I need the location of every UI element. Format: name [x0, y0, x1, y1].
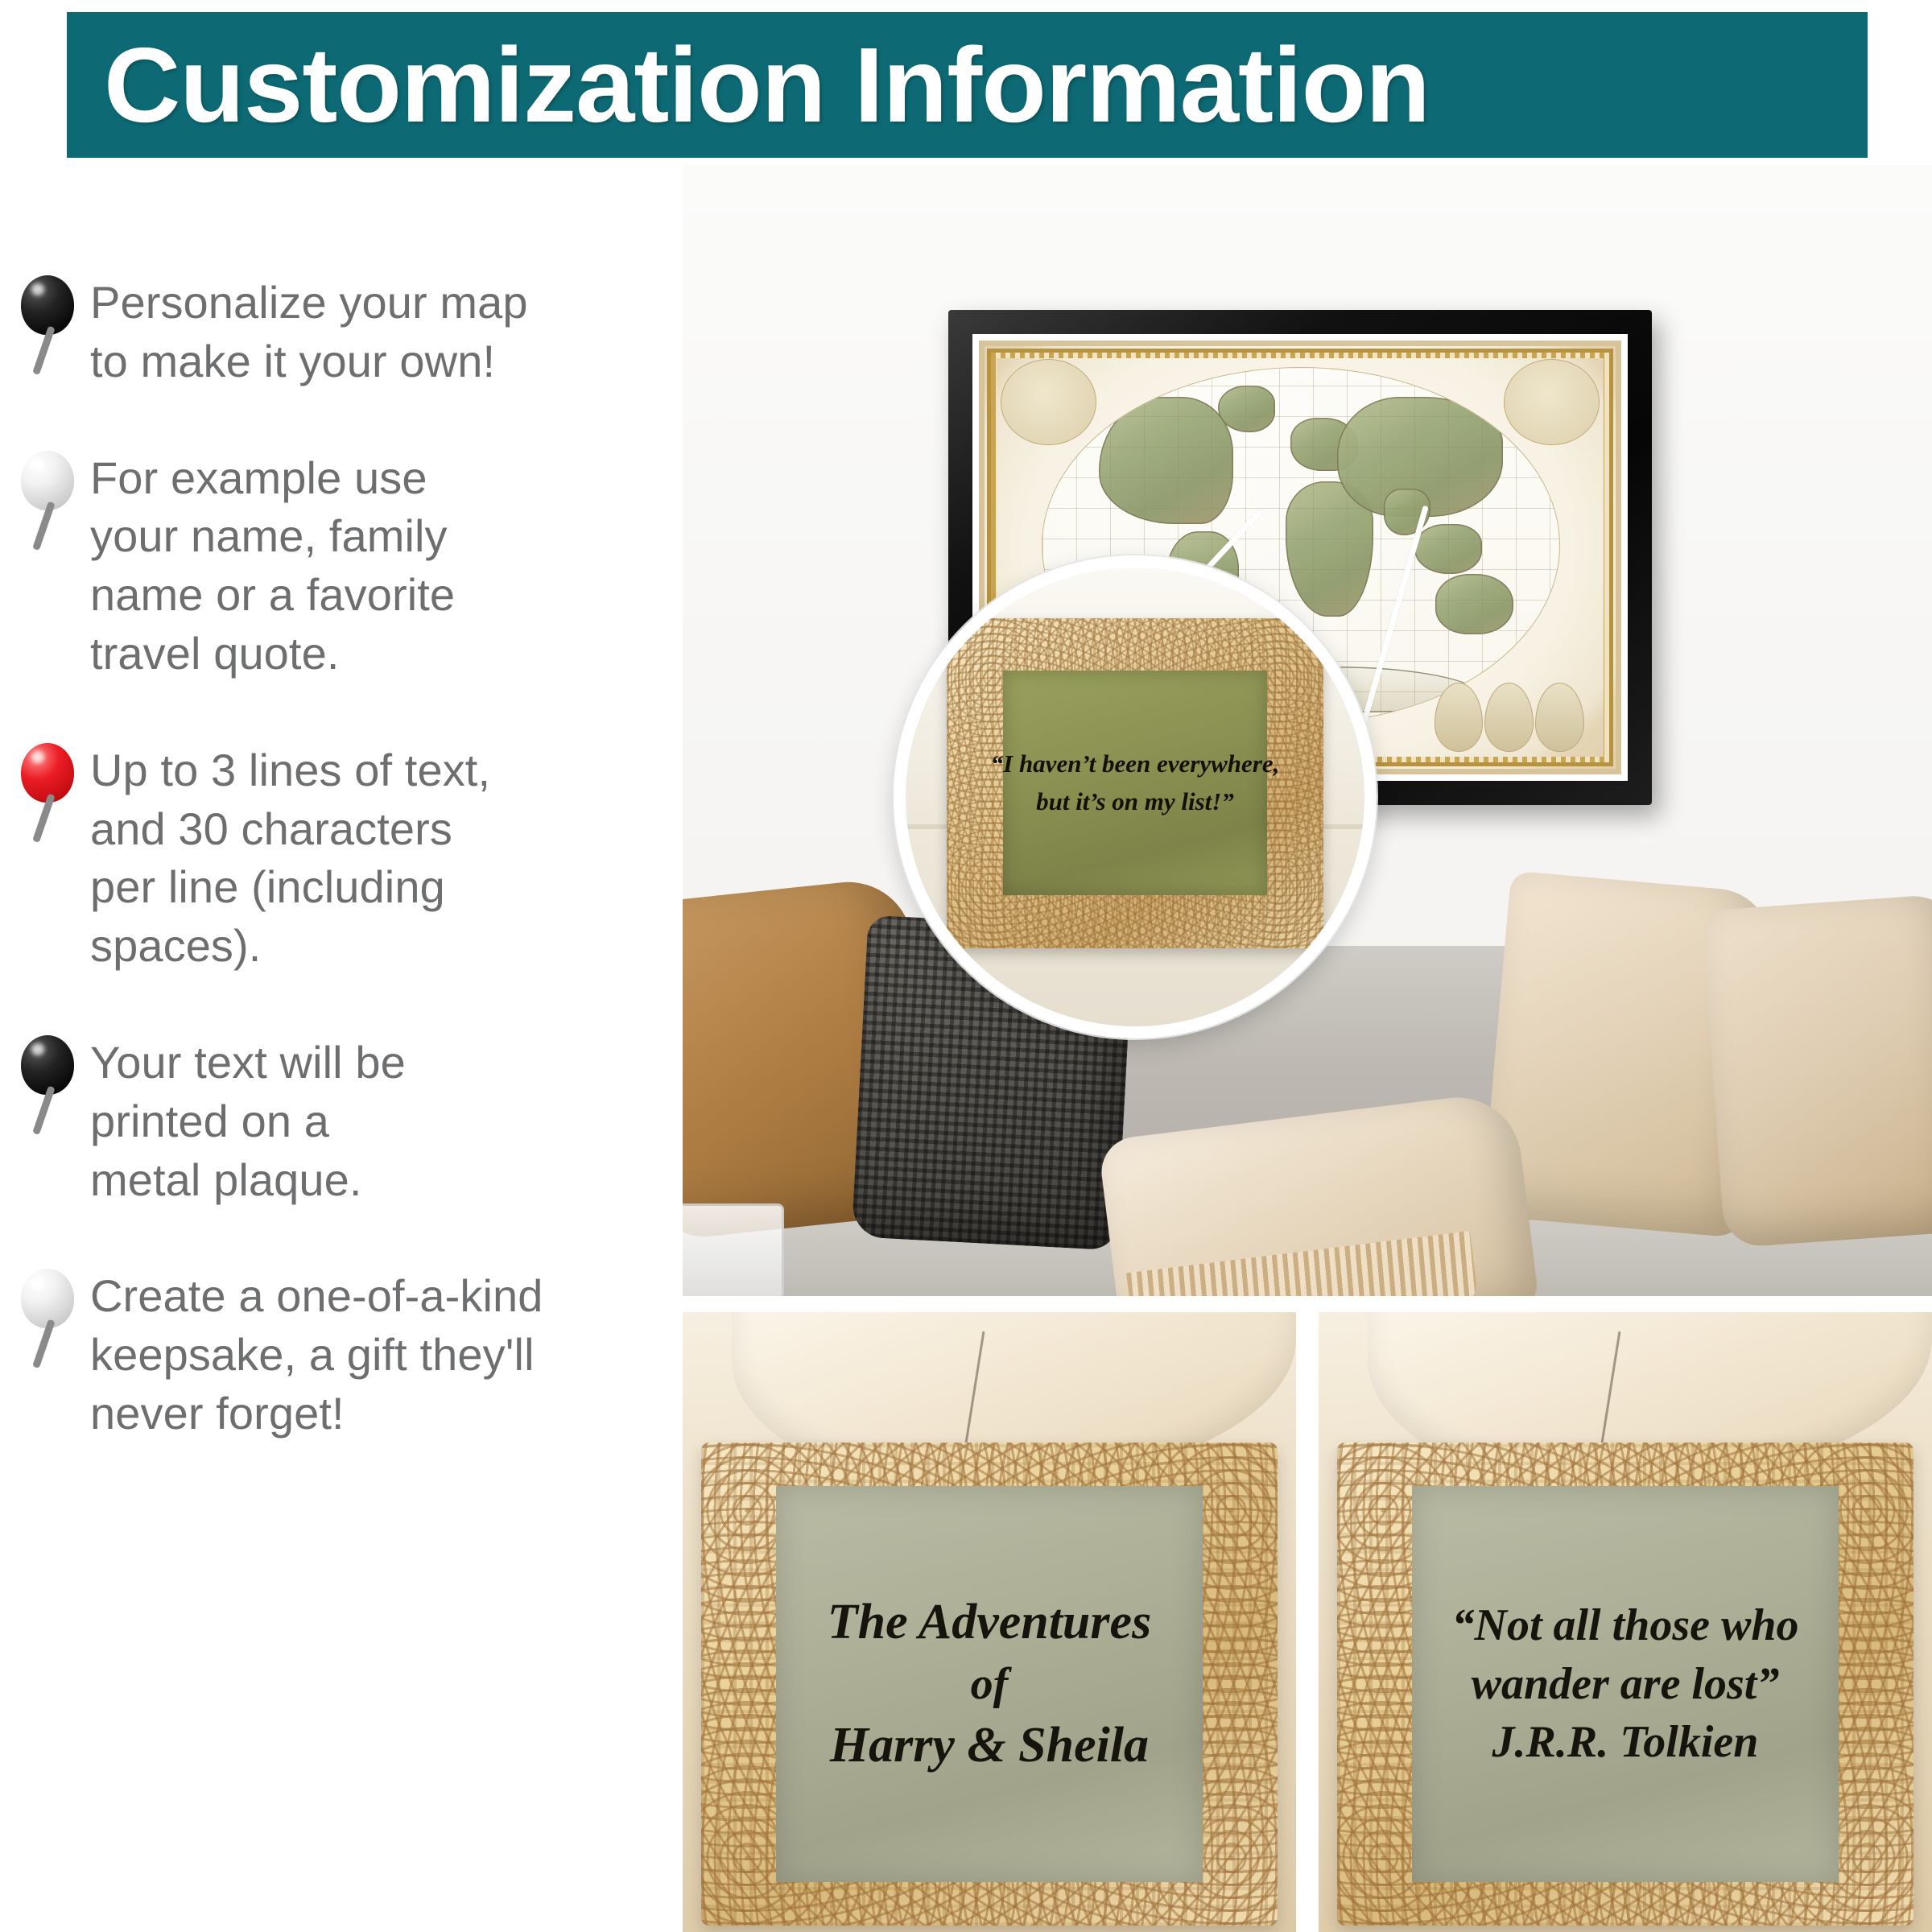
landmass-greenland: [1218, 386, 1275, 431]
pin-head-icon: [21, 1035, 74, 1095]
bullet-item-label: Your text will be printed on a metal pla…: [90, 1034, 668, 1209]
plaque-line-2: of: [971, 1655, 1009, 1714]
plaque-line-3: J.R.R. Tolkien: [1492, 1713, 1759, 1772]
customization-bullet-list: Personalize your map to make it your own…: [0, 274, 668, 1501]
map-pin-icon: [21, 275, 74, 382]
landmass-southeast-asia: [1414, 524, 1482, 574]
landmass-europe: [1290, 418, 1358, 471]
living-room-photo: NATIONAL GEOGRAPHIC The Adventures of Mi…: [683, 165, 1932, 1296]
pin-head-icon: [21, 743, 74, 803]
product-photo-area: NATIONAL GEOGRAPHIC The Adventures of Mi…: [683, 165, 1932, 1932]
metal-plaque-plate: “Not all those who wander are lost” J.R.…: [1412, 1486, 1839, 1882]
landmass-africa: [1286, 481, 1373, 617]
pin-head-icon: [21, 451, 74, 510]
bullet-item-label: For example use your name, family name o…: [90, 449, 668, 683]
bullet-item-example-text: For example use your name, family name o…: [0, 449, 668, 683]
cream-pillow: [1702, 893, 1932, 1248]
bullet-item-keepsake: Create a one-of-a-kind keepsake, a gift …: [0, 1267, 668, 1443]
plaque-line-2: but it’s on my list!”: [1036, 783, 1234, 821]
plaque-line-1: The Adventures: [828, 1590, 1151, 1655]
bullet-item-line-limits: Up to 3 lines of text, and 30 characters…: [0, 741, 668, 976]
pin-head-icon: [21, 1269, 74, 1328]
south-polar-inset-map: [1504, 359, 1600, 445]
plaque-example-name: The Adventures of Harry & Sheila: [683, 1312, 1296, 1932]
map-pin-icon: [21, 1035, 74, 1141]
bullet-item-label: Personalize your map to make it your own…: [90, 274, 668, 391]
north-polar-inset-map: [1001, 359, 1097, 445]
map-pin-icon: [21, 743, 74, 849]
header-banner: Customization Information: [67, 12, 1868, 158]
magnifier-callout: “I haven’t been everywhere, but it’s on …: [894, 555, 1377, 1038]
plaque-line-1: “I haven’t been everywhere,: [991, 745, 1280, 783]
plaque-line-1: “Not all those who: [1452, 1596, 1799, 1655]
bullet-item-label: Up to 3 lines of text, and 30 characters…: [90, 741, 668, 976]
bullet-item-metal-plaque: Your text will be printed on a metal pla…: [0, 1034, 668, 1209]
map-pin-icon: [21, 451, 74, 557]
plaque-line-2: wander are lost”: [1472, 1655, 1780, 1714]
ornate-wood-frame: The Adventures of Harry & Sheila: [701, 1443, 1278, 1926]
glass-side-table: [683, 1203, 784, 1296]
map-pin-icon: [21, 1269, 74, 1375]
landmass-north-america: [1099, 397, 1233, 525]
plaque-line-3: Harry & Sheila: [830, 1713, 1149, 1778]
bullet-item-personalize: Personalize your map to make it your own…: [0, 274, 668, 391]
metal-plaque-plate: The Adventures of Harry & Sheila: [776, 1486, 1203, 1882]
pin-head-icon: [21, 275, 74, 335]
plaque-example-quote: “Not all those who wander are lost” J.R.…: [1319, 1312, 1932, 1932]
landmass-australia: [1435, 574, 1513, 634]
zoomed-plaque-frame: “I haven’t been everywhere, but it’s on …: [947, 618, 1323, 948]
page-title: Customization Information: [104, 32, 1430, 138]
thematic-inset-map: [1535, 683, 1584, 752]
ornate-wood-frame: “Not all those who wander are lost” J.R.…: [1337, 1443, 1913, 1926]
zoomed-plaque-plate: “I haven’t been everywhere, but it’s on …: [1003, 671, 1266, 895]
bullet-item-label: Create a one-of-a-kind keepsake, a gift …: [90, 1267, 668, 1443]
landmass-asia: [1337, 397, 1503, 518]
